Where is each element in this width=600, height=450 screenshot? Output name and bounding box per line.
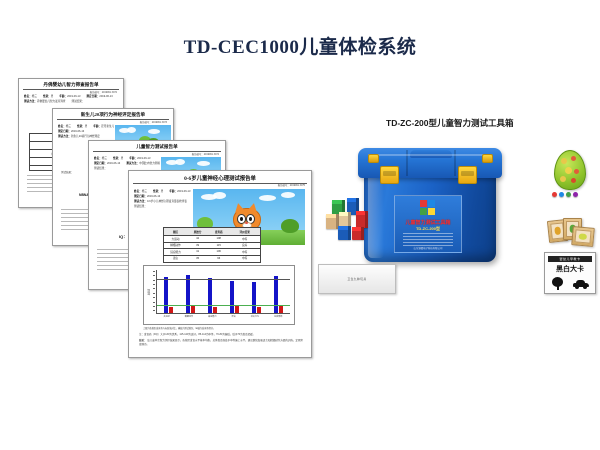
chart-bar-标准差 [279,306,283,313]
chart-x-tick: 总发育商 [274,315,282,323]
doc2-title: 新生儿20项行为神经评定报告单 [53,109,173,119]
chart-bar-发育商 [252,282,256,313]
brand-shield-logo-icon [420,200,436,216]
plate-footer-text: 山东铜都电子科技有限公司 [395,246,461,250]
doc3-report-no-value: 2019061 3074 [204,153,219,156]
toolbox-side-latch-left[interactable] [368,154,379,163]
doc2-report-no-value: 2019061 3073 [152,121,167,124]
block-wood-2 [339,212,351,226]
th-1: 原始分 [187,230,208,234]
doc4-conclusion: 结论： 该儿童本次智力测评结果显示，各能区发育水平基本均衡，总体发育商处于中等偏… [139,339,303,348]
paper-accessory-box[interactable]: 卫生九种玩具 [318,264,396,294]
doc4-summary-note: 注：发育商（DQ）大于130为优秀，115-129为良好，85-114为中等，7… [139,333,303,337]
doc1-result-label: 测试结果： [72,100,85,105]
doc4-score-table: 能区 原始分 发育商 评价结果 大运动 42 108 中等 精细动作 39 11… [163,227,261,263]
toolbox-brand-plate: 儿童智力测试工具箱 TD-ZC-200型 山东铜都电子科技有限公司 [394,195,462,253]
doc3-title: 儿童智力测试报告单 [89,141,225,151]
doc4-title: 0-6岁儿童神经心理测试报告单 [129,171,311,183]
chart-bar-发育商 [230,281,234,313]
chart-x-tick: 社交行为 [251,315,259,323]
block-blue-2 [338,226,351,240]
doc2-field-2: 年龄：足月新生儿 [93,125,114,130]
chart-x-tick: 精细动作 [185,315,193,323]
doc1-fields: 姓名：杨三 性别：男 年龄：2019-06-13 测定日期：2019-06-13… [19,95,123,105]
doc1-title: 丹佛婴幼儿智力筛查报告单 [19,79,123,89]
chart-reference-line [157,279,290,280]
doc4-fields: 姓名：杨三 性别：男 年龄：2019-06-13 测定日期：2019-06-13… [129,190,199,210]
th-0: 能区 [164,230,187,234]
chart-y-axis: 发育商 [144,270,155,314]
chart-y-label: 发育商 [146,289,150,296]
chart-bar-标准差 [169,307,173,313]
chart-footnote: 上图为各能区发育商与标准值对比，横轴为测试能区，纵轴为发育商得分。 [143,326,301,330]
doc1-method: 测试方法：丹佛婴幼儿智力发育筛查 [24,100,66,105]
doc3-iq-label: IQ： [119,234,127,239]
toolbox-latch-left[interactable] [380,166,399,184]
doc4-report-no-value: 2019061 3075 [290,184,305,187]
cat-ear-right [247,202,259,213]
screenshot-canvas: TD-CEC1000儿童体检系统 丹佛婴幼儿智力筛查报告单 报告编号：20190… [0,0,600,450]
chart-bar-发育商 [208,278,212,313]
flash-card-strip: 婴幼儿早教卡 [548,256,592,262]
chart-bar-标准差 [191,306,195,313]
report-document-4[interactable]: 0-6岁儿童神经心理测试报告单 报告编号：2019061 3075 [128,170,312,358]
doc4-report-no-label: 报告编号： [278,184,290,187]
chart-bar-group [208,270,217,313]
chart-bar-发育商 [164,277,168,313]
doc2-fields: 姓名：杨三 性别：男 年龄：足月新生儿 测定日期：2019-06-13 测试方法… [53,125,123,140]
doc2-report-no: 报告编号：2019061 3073 [140,120,167,124]
paper-box-caption: 卫生九种玩具 [347,277,366,281]
doc4-report-no: 报告编号：2019061 3075 [278,183,305,187]
toolbox-handle[interactable] [410,150,452,158]
development-quotient-chart[interactable]: 发育商 大运动精细动作适应能力语言社交行为总发育商 [143,265,295,325]
toolbox-latch-right[interactable] [458,166,477,184]
chart-bar-group [164,270,173,313]
chart-x-tick: 大运动 [164,315,170,323]
chart-baseline-line [157,305,290,306]
car-silhouette-icon [573,281,589,289]
chart-bar-group [230,270,239,313]
wooden-block-set[interactable] [322,198,382,248]
chart-plot-area [156,270,290,314]
doc2-result-label: 测试结果： [61,171,74,174]
block-red-2 [352,227,364,240]
tree-silhouette-icon [552,277,563,290]
toolbox-caption: TD-ZC-200型儿童智力测试工具箱 [386,117,514,129]
doc3-report-no: 报告编号：2019061 3074 [192,152,219,156]
doc3-method: 测试方法：中国比内智力测验 [126,162,160,167]
chart-x-tick: 适应能力 [208,315,216,323]
chart-bar-group [186,270,195,313]
doc2-report-no-label: 报告编号： [140,121,152,124]
chart-bar-标准差 [235,306,239,313]
chart-bar-标准差 [257,307,261,313]
doc1-field-3: 测定日期：2019-06-13 [86,95,112,100]
doc4-result-label: 测试结果： [134,205,147,210]
flash-card-box[interactable]: 婴幼儿早教卡 黑白大卡 [544,252,596,294]
plate-model-text: TD-ZC-200型 [395,226,461,232]
flash-card-title: 黑白大卡 [545,264,595,274]
chart-bar-发育商 [186,275,190,313]
doc4-conclusion-label: 结论： [139,339,147,342]
cat-nose [245,222,248,224]
doc1-report-no-label: 报告编号： [90,91,102,94]
chart-x-tick: 语言 [232,315,236,323]
toolbox-side-latch-right[interactable] [482,154,493,163]
bead-set[interactable] [552,192,578,197]
chart-bar-发育商 [274,276,278,313]
doc4-field-2: 年龄：2019-06-13 [169,190,190,195]
wooden-card-set[interactable] [548,218,596,252]
chart-bar-标准差 [213,307,217,313]
doc1-report-no-value: 2019061 3072 [102,91,117,94]
th-2: 发育商 [208,230,229,234]
doc1-report-no: 报告编号：2019061 3072 [90,90,117,94]
doc4-conclusion-text: 该儿童本次智力测评结果显示，各能区发育水平基本均衡，总体发育商处于中等偏上水平，… [139,339,303,346]
table-row: 语言 35 96 中等 [164,256,260,262]
table-header-row: 能区 原始分 发育商 评价结果 [164,228,260,236]
doc3-result-label: 测试结果： [94,167,107,172]
th-3: 评价结果 [229,230,260,234]
chart-x-labels: 大运动精细动作适应能力语言社交行为总发育商 [156,315,290,323]
wooden-card-3 [571,226,595,247]
block-red-1 [356,211,368,228]
plate-brand-text: 儿童智力测试工具箱 [395,219,461,226]
flash-card-strip-label: 婴幼儿早教卡 [559,257,580,261]
doc3-report-no-label: 报告编号： [192,153,204,156]
chart-bar-group [274,270,283,313]
chart-bar-group [252,270,261,313]
egg-puzzle-toy[interactable] [554,150,586,190]
page-title: TD-CEC1000儿童体检系统 [0,32,600,59]
